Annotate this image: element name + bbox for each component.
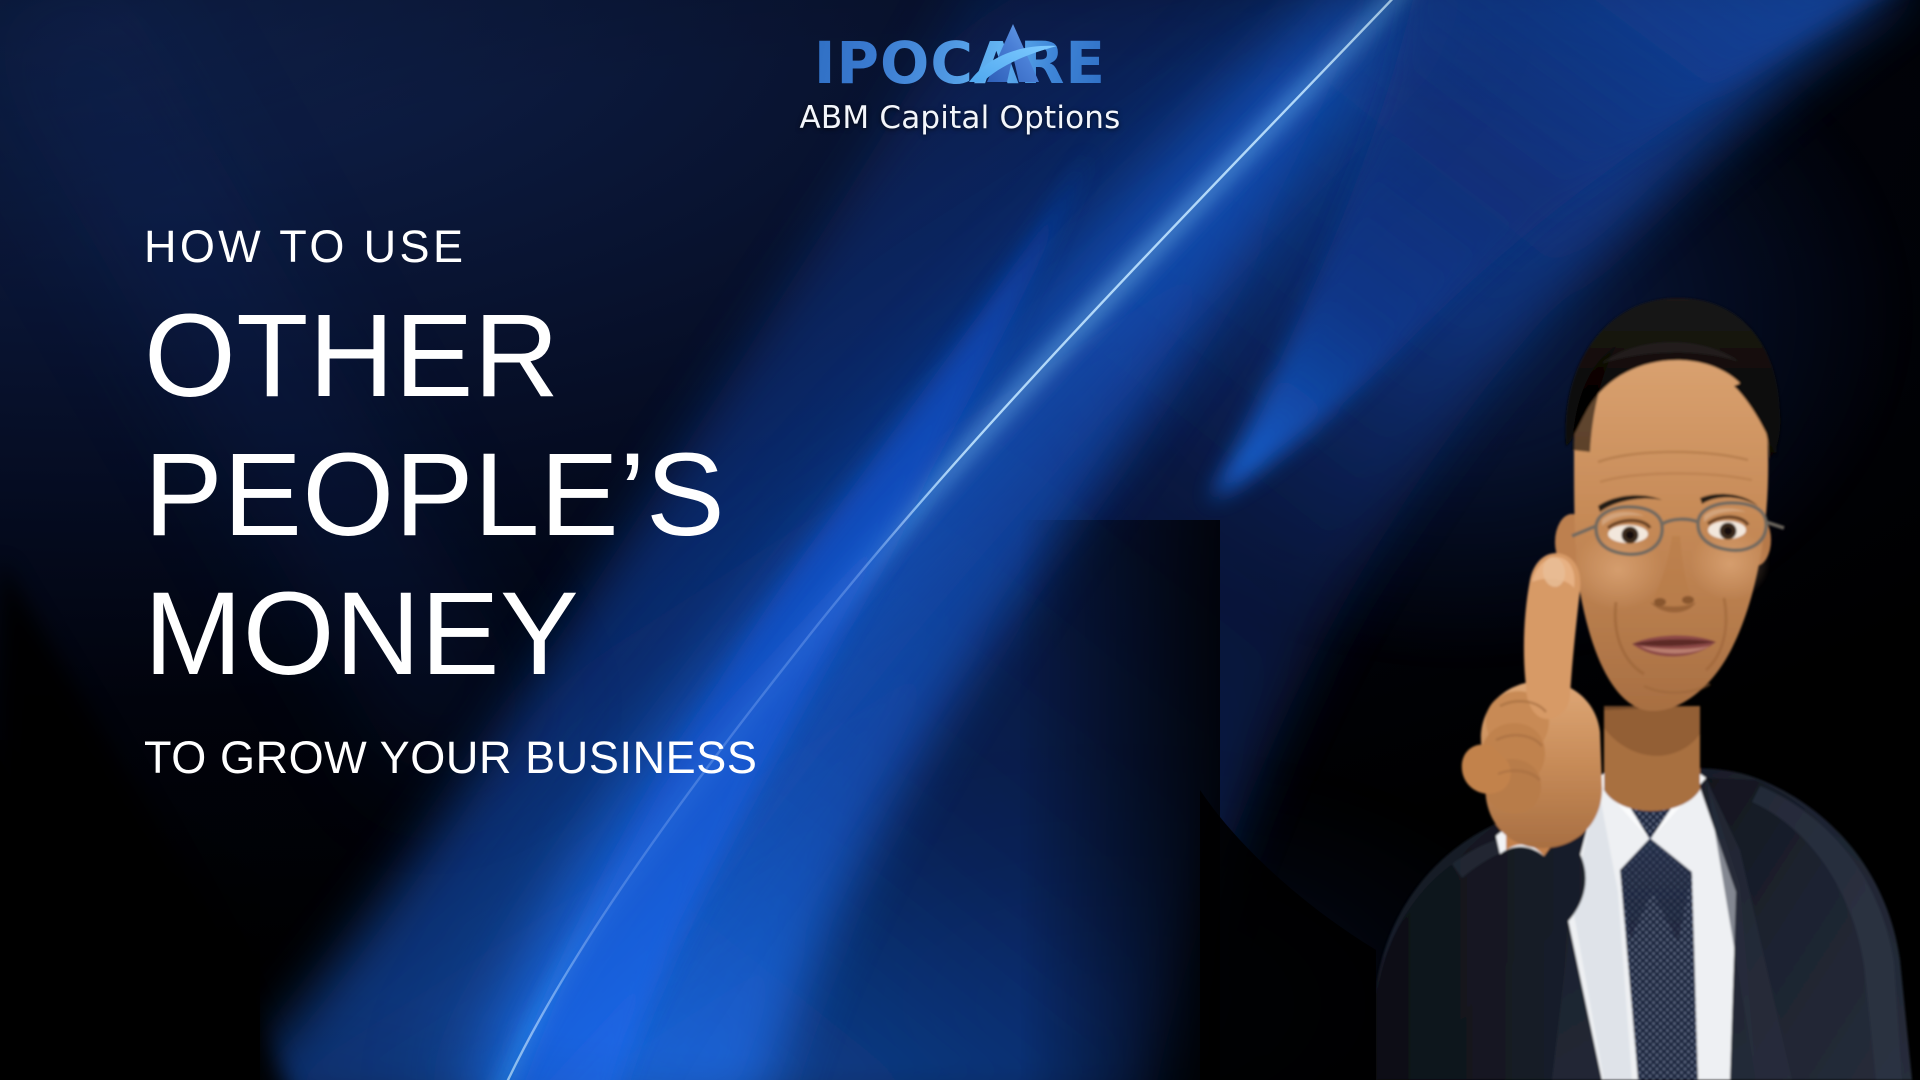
headline-subline: TO GROW YOUR BUSINESS	[144, 735, 1104, 780]
logo-wordmark: IPOCARE	[814, 32, 1106, 94]
presenter-photo	[1200, 150, 1920, 1080]
logo-text: IPOCARE	[814, 29, 1106, 97]
headline-block: HOW TO USE OTHER PEOPLE’S MONEY TO GROW …	[144, 224, 1104, 780]
brand-tagline: ABM Capital Options	[0, 100, 1920, 136]
brand-logo-block: IPOCARE	[0, 32, 1920, 136]
headline-line-3: MONEY	[144, 565, 1104, 704]
headline-line-2: PEOPLE’S	[144, 426, 1104, 565]
headline-line-1: OTHER	[144, 287, 1104, 426]
person-edge-feather	[1020, 520, 1220, 1080]
promotional-banner: IPOCARE	[0, 0, 1920, 1080]
headline-kicker: HOW TO USE	[144, 224, 1104, 269]
headline-main: OTHER PEOPLE’S MONEY	[144, 287, 1104, 705]
